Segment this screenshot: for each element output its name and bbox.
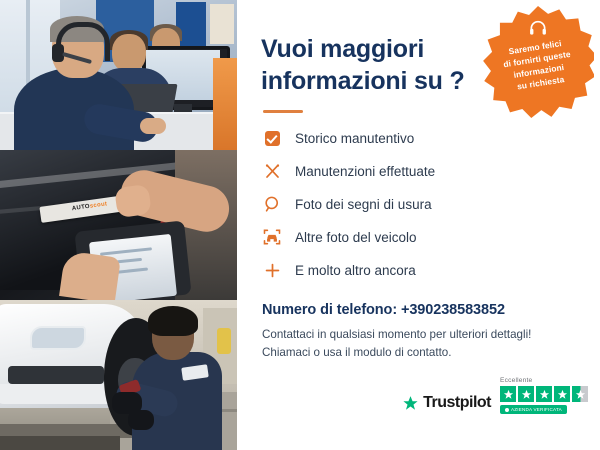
crossed-tools-icon [261, 160, 283, 182]
car-headlight [30, 326, 86, 350]
content-panel: Vuoi maggiori informazioni su ? Storico … [237, 0, 600, 450]
mechanic-wheel-inspection-photo [0, 300, 237, 450]
rating-label: Eccellente [500, 377, 532, 384]
star-icon [500, 386, 516, 402]
list-item: Foto dei segni di usura [261, 193, 578, 215]
trustpilot-rating[interactable]: Trustpilot Eccellente AZIENDA VERIFICATA [402, 377, 588, 414]
shelf-item [217, 328, 231, 354]
star-icon [554, 386, 570, 402]
car-lift-base [0, 436, 120, 450]
title-underline-divider [263, 110, 303, 113]
list-item: E molto altro ancora [261, 259, 578, 281]
paint-thickness-inspection-photo: AUTOscout [0, 150, 237, 300]
trustpilot-score-block: Eccellente AZIENDA VERIFICATA [500, 377, 588, 414]
wall-poster-secondary [210, 4, 234, 44]
callout-badge: Saremo felici di fornirti queste informa… [482, 6, 594, 118]
contact-description-line-1: Contattaci in qualsiasi momento per ulte… [262, 326, 578, 344]
call-center-agents-photo [0, 0, 237, 150]
photo-collage: AUTOscout [0, 0, 237, 450]
mechanic-glove-lower [128, 410, 154, 430]
list-item-label: Storico manutentivo [295, 131, 414, 146]
list-item: Altre foto del veicolo [261, 226, 578, 248]
list-item-label: E molto altro ancora [295, 263, 416, 278]
contact-description-line-2: Chiamaci o usa il modulo di contatto. [262, 344, 578, 362]
page-title: Vuoi maggiori informazioni su ? [261, 34, 491, 97]
phone-number-line[interactable]: Numero di telefono: +390238583852 [262, 302, 578, 318]
mechanic-hair [148, 306, 198, 336]
advertisement-banner: AUTOscout [0, 0, 600, 450]
checkbox-check-icon [261, 127, 283, 149]
star-icon [518, 386, 534, 402]
car-grille [8, 366, 104, 384]
magnifier-icon [261, 193, 283, 215]
list-item: Manutenzioni effettuate [261, 160, 578, 182]
plus-icon [261, 259, 283, 281]
agent-hand [140, 118, 166, 134]
star-icon-half [572, 386, 588, 402]
star-icon [536, 386, 552, 402]
car-scan-frame-icon [261, 226, 283, 248]
feature-list: Storico manutentivo Manutenzioni effettu… [261, 127, 578, 281]
list-item: Storico manutentivo [261, 127, 578, 149]
second-agent-head [112, 34, 146, 72]
wall-poster [176, 2, 206, 48]
verified-label: AZIENDA VERIFICATA [511, 407, 562, 412]
trustpilot-wordmark: Trustpilot [423, 394, 491, 412]
trustpilot-logo: Trustpilot [402, 394, 491, 414]
list-item-label: Altre foto del veicolo [295, 230, 417, 245]
list-item-label: Manutenzioni effettuate [295, 164, 435, 179]
headset-icon [528, 19, 548, 41]
trustpilot-star-icon [402, 395, 419, 412]
verified-dot-icon [505, 408, 509, 412]
orange-foreground-object [213, 58, 237, 150]
verified-business-badge: AZIENDA VERIFICATA [500, 405, 567, 414]
star-rating [500, 386, 588, 402]
list-item-label: Foto dei segni di usura [295, 197, 432, 212]
